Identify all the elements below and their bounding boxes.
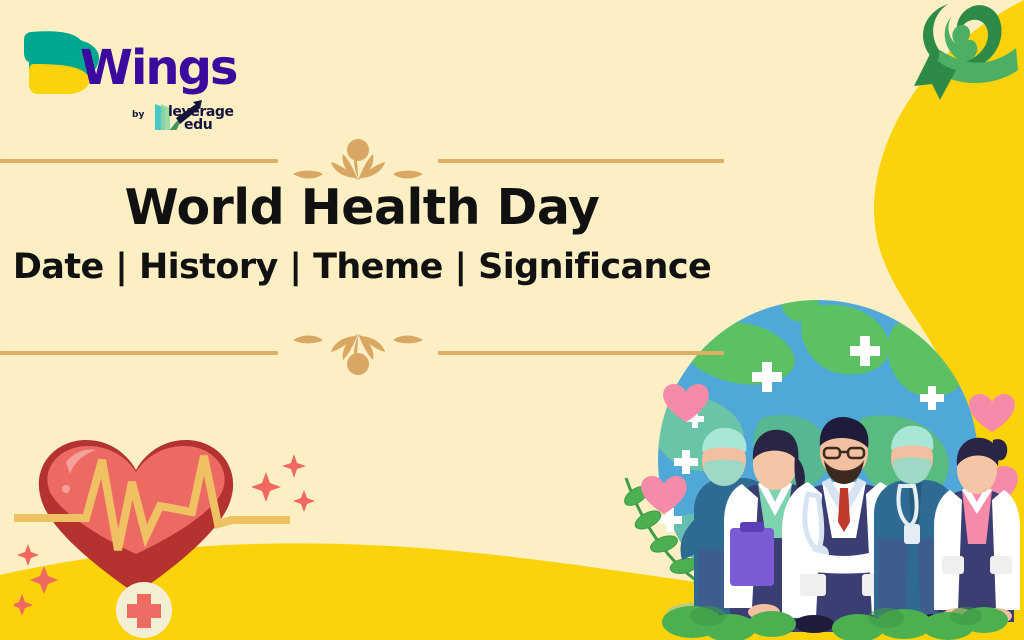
divider-line-left-top xyxy=(0,159,278,163)
wings-logo[interactable]: Wings by leverage edu xyxy=(24,18,244,130)
world-health-day-banner: Wings by leverage edu xyxy=(0,0,1024,640)
heartbeat-heart-illustration xyxy=(14,424,334,640)
heart-shape-group xyxy=(14,424,334,640)
heart-gloss-dot xyxy=(62,485,70,493)
wing-top-shape xyxy=(24,31,84,62)
heading-block: World Health Day Date | History | Theme … xyxy=(0,130,724,370)
page-title: World Health Day xyxy=(0,182,724,233)
page-subtitle: Date | History | Theme | Significance xyxy=(0,248,724,287)
ornament-row-bottom xyxy=(0,330,724,376)
logo-by-label: by xyxy=(132,110,144,120)
ornament-row-top xyxy=(0,138,724,184)
leverage-edu-wordmark: leverage edu xyxy=(168,106,234,133)
fleuron-ornament-up xyxy=(283,138,433,184)
ribbon-shape xyxy=(900,0,1020,118)
fleuron-ornament-down xyxy=(283,330,433,376)
fleuron-up-shape xyxy=(283,138,433,184)
fleuron-down-shape xyxy=(283,330,433,376)
awareness-ribbon-icon xyxy=(900,0,1020,118)
wings-wordmark: Wings xyxy=(80,40,237,96)
divider-line-right-bottom xyxy=(438,351,724,355)
divider-line-left-bottom xyxy=(0,351,278,355)
divider-line-right-top xyxy=(438,159,724,163)
